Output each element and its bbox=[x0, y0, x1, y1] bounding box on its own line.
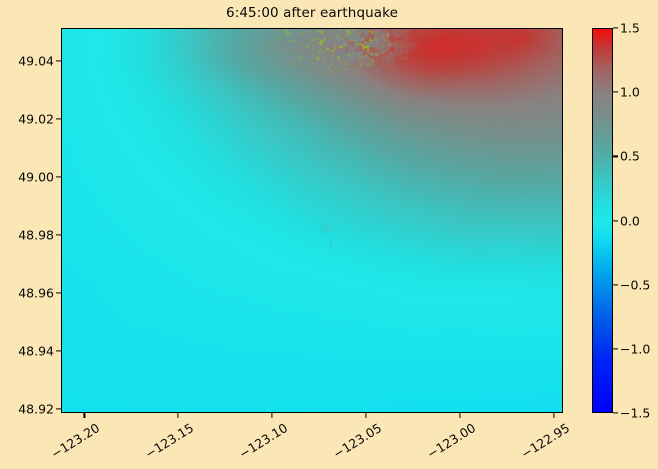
y-axis-tick-mark bbox=[56, 292, 61, 293]
colorbar-tick-mark bbox=[613, 156, 618, 157]
colorbar-tick-mark bbox=[613, 412, 618, 413]
colorbar-tick-mark bbox=[613, 220, 618, 221]
colorbar-tick-label: 0.5 bbox=[620, 149, 640, 164]
colorbar bbox=[592, 28, 613, 413]
y-axis-tick-mark bbox=[56, 350, 61, 351]
matplotlib-figure: 6:45:00 after earthquake 48.9248.9448.96… bbox=[0, 0, 658, 469]
x-axis-tick-mark bbox=[553, 413, 554, 418]
x-axis-tick-label: −123.20 bbox=[49, 419, 105, 462]
deformation-heatmap bbox=[62, 29, 562, 412]
x-axis-tick-label: −123.00 bbox=[424, 419, 480, 462]
colorbar-tick-label: 0.0 bbox=[620, 213, 640, 228]
y-axis-tick-marks bbox=[55, 28, 61, 413]
colorbar-tick-label: 1.0 bbox=[620, 85, 640, 100]
x-axis-tick-mark bbox=[84, 413, 85, 418]
y-axis-tick-label: 48.92 bbox=[18, 401, 54, 416]
y-axis-tick-label: 49.02 bbox=[18, 112, 54, 127]
map-axes[interactable] bbox=[61, 28, 563, 413]
y-axis-tick-mark bbox=[56, 119, 61, 120]
colorbar-tick-label: −1.0 bbox=[620, 341, 650, 356]
y-axis-tick-mark bbox=[56, 408, 61, 409]
page-title: 6:45:00 after earthquake bbox=[61, 5, 563, 21]
x-axis-tick-labels: −123.20−123.15−123.10−123.05−123.00−122.… bbox=[61, 419, 563, 469]
y-axis-tick-label: 48.96 bbox=[18, 285, 54, 300]
colorbar-tick-mark bbox=[613, 284, 618, 285]
x-axis-tick-mark bbox=[365, 413, 366, 418]
x-axis-tick-label: −123.05 bbox=[330, 419, 386, 462]
colorbar-tick-label: −0.5 bbox=[620, 277, 650, 292]
colorbar-tick-mark bbox=[613, 348, 618, 349]
x-axis-tick-label: −122.95 bbox=[518, 419, 574, 462]
y-axis-tick-mark bbox=[56, 61, 61, 62]
x-axis-tick-mark bbox=[178, 413, 179, 418]
y-axis-tick-label: 49.00 bbox=[18, 170, 54, 185]
x-axis-tick-label: −123.10 bbox=[236, 419, 292, 462]
y-axis-tick-label: 49.04 bbox=[18, 54, 54, 69]
colorbar-tick-mark bbox=[613, 27, 618, 28]
x-axis-tick-label: −123.15 bbox=[143, 419, 199, 462]
colorbar-tick-label: 1.5 bbox=[620, 21, 640, 36]
x-axis-tick-mark bbox=[272, 413, 273, 418]
colorbar-tick-labels: −1.5−1.0−0.50.00.51.01.5 bbox=[620, 28, 658, 413]
colorbar-tick-marks bbox=[613, 28, 619, 413]
y-axis-tick-labels: 48.9248.9448.9648.9849.0049.0249.04 bbox=[0, 28, 54, 413]
colorbar-tick-label: −1.5 bbox=[620, 406, 650, 421]
colorbar-tick-mark bbox=[613, 92, 618, 93]
y-axis-tick-mark bbox=[56, 176, 61, 177]
y-axis-tick-label: 48.94 bbox=[18, 343, 54, 358]
y-axis-tick-label: 48.98 bbox=[18, 227, 54, 242]
y-axis-tick-mark bbox=[56, 234, 61, 235]
colorbar-gradient bbox=[593, 29, 612, 412]
x-axis-tick-mark bbox=[459, 413, 460, 418]
